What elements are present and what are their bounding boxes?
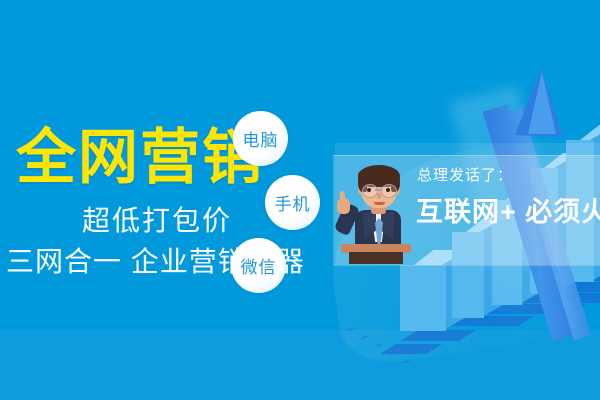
badge-mobile-label: 手机 xyxy=(275,190,311,215)
page-title: 全网营销 xyxy=(16,128,264,188)
marketing-banner: 全网营销 超低打包价 三网合一 企业营销利器 电脑 手机 微信 xyxy=(0,0,600,400)
arrow-head-highlight xyxy=(528,72,556,134)
figure-mouth xyxy=(374,202,385,205)
figure-glasses-bridge xyxy=(375,189,382,191)
subtitle-line-1: 超低打包价 xyxy=(0,207,232,235)
podium-body xyxy=(349,252,403,264)
figure-eye-left xyxy=(367,188,371,192)
quote-headline: 互联网+ 必须火起来 xyxy=(416,199,600,226)
badge-wechat[interactable]: 微信 xyxy=(231,238,286,293)
badge-pc[interactable]: 电脑 xyxy=(233,111,288,166)
quote-label: 总理发话了： xyxy=(417,168,513,183)
speaker-figure-icon xyxy=(337,158,415,262)
chart-bar xyxy=(400,265,446,331)
figure-nose xyxy=(377,193,381,199)
badge-mobile[interactable]: 手机 xyxy=(265,175,320,230)
figure-pointing-finger xyxy=(339,191,345,203)
figure-eye-right xyxy=(386,188,390,192)
badge-wechat-label: 微信 xyxy=(241,253,277,278)
bar-front-face xyxy=(400,265,446,331)
badge-pc-label: 电脑 xyxy=(243,126,279,151)
